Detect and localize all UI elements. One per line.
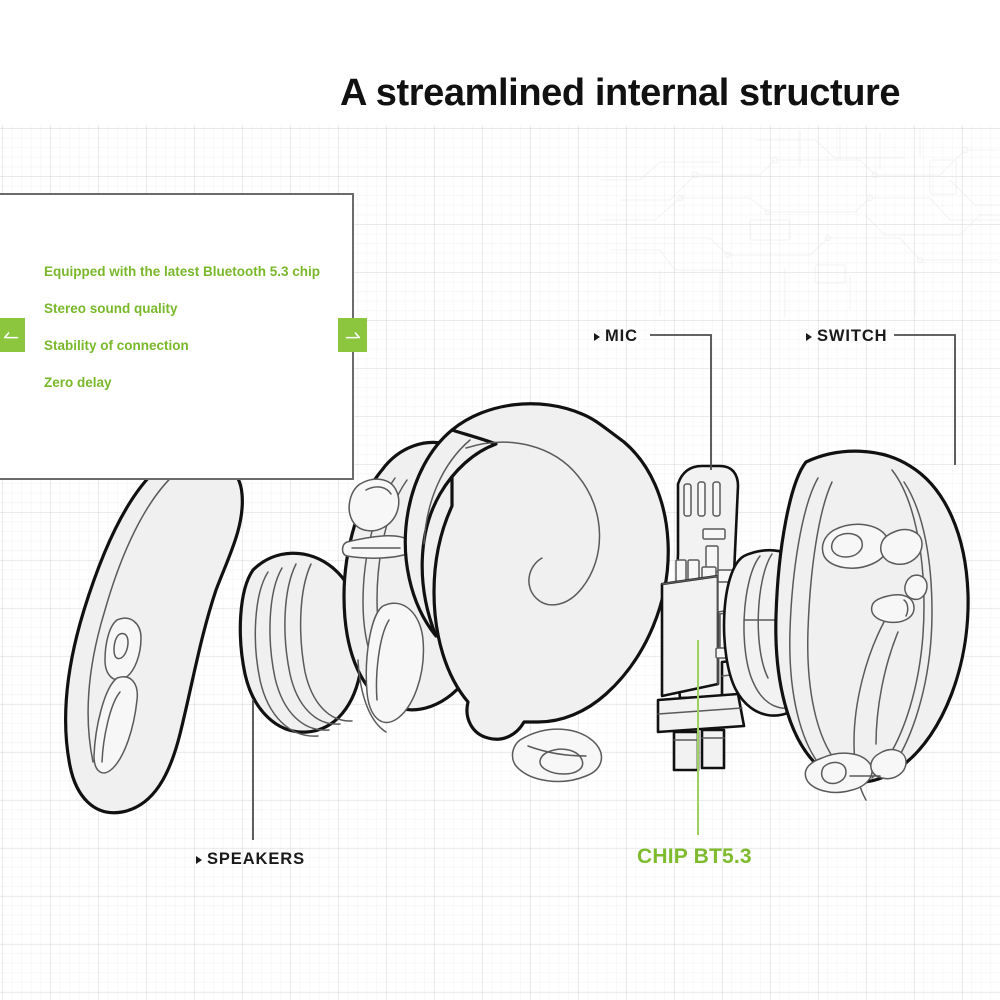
part-battery-module [724,539,829,716]
part-ear-hook-silicone [66,461,243,813]
diagram-canvas: .ol { fill:#f0f0f0; stroke:#111; stroke-… [0,0,1000,1000]
part-speaker-driver [240,553,363,736]
carousel-prev-button[interactable] [0,318,25,352]
callout-label-speakers-text: SPEAKERS [207,850,305,869]
arrow-right-icon [345,330,361,340]
part-rear-cover-shell [776,451,968,800]
carousel-next-button[interactable] [338,318,367,352]
leader-line-mic [650,335,711,470]
callout-label-speakers: SPEAKERS [196,850,305,869]
triangle-right-icon [196,856,202,864]
callout-label-switch-text: SWITCH [817,327,887,346]
part-outer-body-shell [405,404,668,782]
callout-label-mic-text: MIC [605,327,638,346]
triangle-right-icon [806,333,812,341]
callout-leader-lines [0,0,1000,1000]
feature-callout-box: Equipped with the latest Bluetooth 5.3 c… [0,193,354,480]
triangle-right-icon [594,333,600,341]
feature-item-0: Equipped with the latest Bluetooth 5.3 c… [44,265,344,279]
part-inner-housing-shell [343,442,505,732]
earbud-exploded-illustration: .ol { fill:#f0f0f0; stroke:#111; stroke-… [0,0,1000,1000]
feature-item-2: Stability of connection [44,339,344,353]
feature-item-1: Stereo sound quality [44,302,344,316]
callout-label-mic: MIC [594,327,638,346]
page-title: A streamlined internal structure [340,72,990,115]
arrow-left-icon [3,330,19,340]
part-bluetooth-chip-pcb [658,466,826,770]
callout-label-chip: CHIP BT5.3 [637,845,752,869]
feature-list: Equipped with the latest Bluetooth 5.3 c… [44,265,344,413]
callout-label-switch: SWITCH [806,327,887,346]
feature-item-3: Zero delay [44,376,344,390]
leader-line-switch [894,335,955,465]
circuit-trace-background [600,120,1000,330]
